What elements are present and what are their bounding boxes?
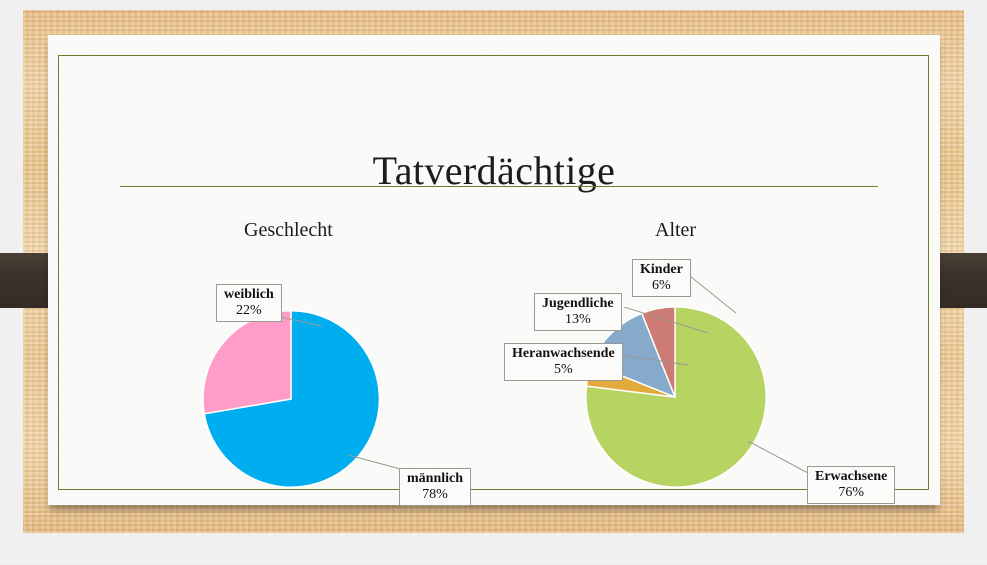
callout-maennlich-value: 78% [407, 487, 463, 503]
callout-heranwachsende-label: Heranwachsende [512, 346, 615, 362]
callout-erwachsene-value: 76% [815, 485, 887, 501]
callout-maennlich-label: männlich [407, 471, 463, 487]
title-divider [120, 186, 878, 187]
callout-weiblich[interactable]: weiblich 22% [216, 284, 282, 322]
callout-jugendliche[interactable]: Jugendliche 13% [534, 293, 622, 331]
pie-slice-weiblich[interactable] [203, 311, 291, 414]
chart-title-alter: Alter [655, 219, 696, 242]
callout-heranwachsende[interactable]: Heranwachsende 5% [504, 343, 623, 381]
callout-kinder-value: 6% [640, 278, 683, 294]
slide-inner-border [58, 55, 929, 490]
callout-kinder-label: Kinder [640, 262, 683, 278]
pie-chart-geschlecht[interactable] [201, 309, 381, 489]
callout-jugendliche-value: 13% [542, 312, 614, 328]
pie-geschlecht-svg [201, 309, 381, 489]
bottom-backdrop-strip [0, 533, 987, 565]
slide-paper: Tatverdächtige Geschlecht weiblich 22% m… [48, 35, 940, 505]
chart-title-geschlecht: Geschlecht [244, 219, 333, 242]
callout-heranwachsende-value: 5% [512, 362, 615, 378]
callout-erwachsene[interactable]: Erwachsene 76% [807, 466, 895, 504]
callout-erwachsene-label: Erwachsene [815, 469, 887, 485]
slide-canvas: Tatverdächtige Geschlecht weiblich 22% m… [0, 0, 987, 565]
callout-weiblich-value: 22% [224, 303, 274, 319]
pie-alter-svg [583, 305, 767, 489]
callout-kinder[interactable]: Kinder 6% [632, 259, 691, 297]
callout-maennlich[interactable]: männlich 78% [399, 468, 471, 506]
callout-weiblich-label: weiblich [224, 287, 274, 303]
pie-chart-alter[interactable] [583, 305, 767, 489]
callout-jugendliche-label: Jugendliche [542, 296, 614, 312]
